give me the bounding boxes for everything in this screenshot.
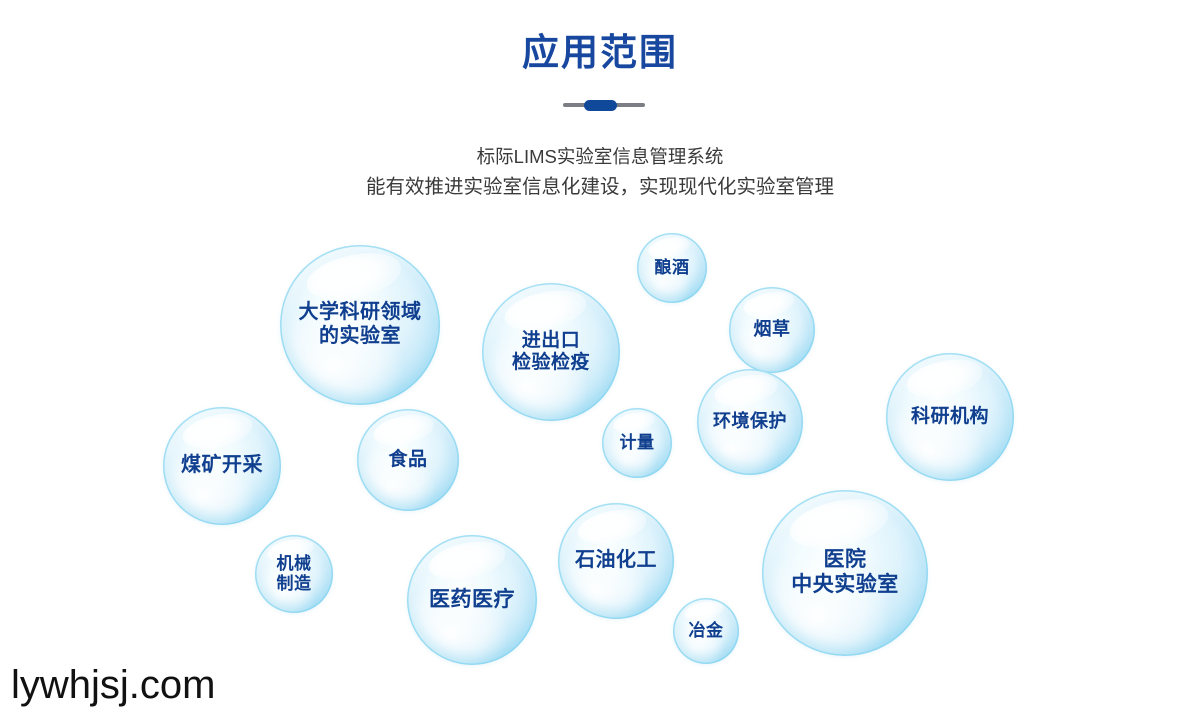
bubble-item[interactable]: 酿酒: [637, 233, 707, 303]
bubble-item[interactable]: 冶金: [673, 598, 739, 664]
bubble-label: 医院 中央实验室: [791, 548, 899, 598]
bubble-item[interactable]: 机械 制造: [255, 535, 333, 613]
bubble-item[interactable]: 石油化工: [558, 503, 674, 619]
bubble-item[interactable]: 大学科研领域 的实验室: [280, 245, 440, 405]
bubble-label: 计量: [620, 433, 655, 453]
bubble-item[interactable]: 进出口 检验检疫: [482, 283, 620, 421]
bubble-item[interactable]: 烟草: [729, 287, 815, 373]
bubble-label: 烟草: [754, 319, 791, 340]
site-watermark: lywhjsj.com: [11, 662, 215, 708]
bubble-label: 冶金: [689, 621, 724, 641]
bubble-label: 酿酒: [655, 258, 690, 278]
bubble-label: 食品: [388, 449, 427, 471]
bubble-cluster: 大学科研领域 的实验室进出口 检验检疫酿酒烟草科研机构环境保护计量食品煤矿开采机…: [0, 0, 1200, 718]
bubble-item[interactable]: 煤矿开采: [163, 407, 281, 525]
bubble-label: 煤矿开采: [181, 454, 263, 478]
bubble-item[interactable]: 计量: [602, 408, 672, 478]
bubble-label: 环境保护: [713, 411, 787, 432]
bubble-label: 石油化工: [575, 549, 657, 573]
bubble-label: 机械 制造: [277, 554, 312, 594]
application-scope-section: 应用范围 标际LIMS实验室信息管理系统 能有效推进实验室信息化建设，实现现代化…: [0, 0, 1200, 718]
bubble-label: 科研机构: [911, 406, 989, 428]
bubble-label: 进出口 检验检疫: [512, 330, 590, 375]
bubble-label: 大学科研领域 的实验室: [299, 301, 422, 348]
bubble-item[interactable]: 医院 中央实验室: [762, 490, 928, 656]
bubble-item[interactable]: 环境保护: [697, 369, 803, 475]
bubble-item[interactable]: 科研机构: [886, 353, 1014, 481]
bubble-item[interactable]: 食品: [357, 409, 459, 511]
bubble-label: 医药医疗: [429, 588, 515, 613]
bubble-item[interactable]: 医药医疗: [407, 535, 537, 665]
